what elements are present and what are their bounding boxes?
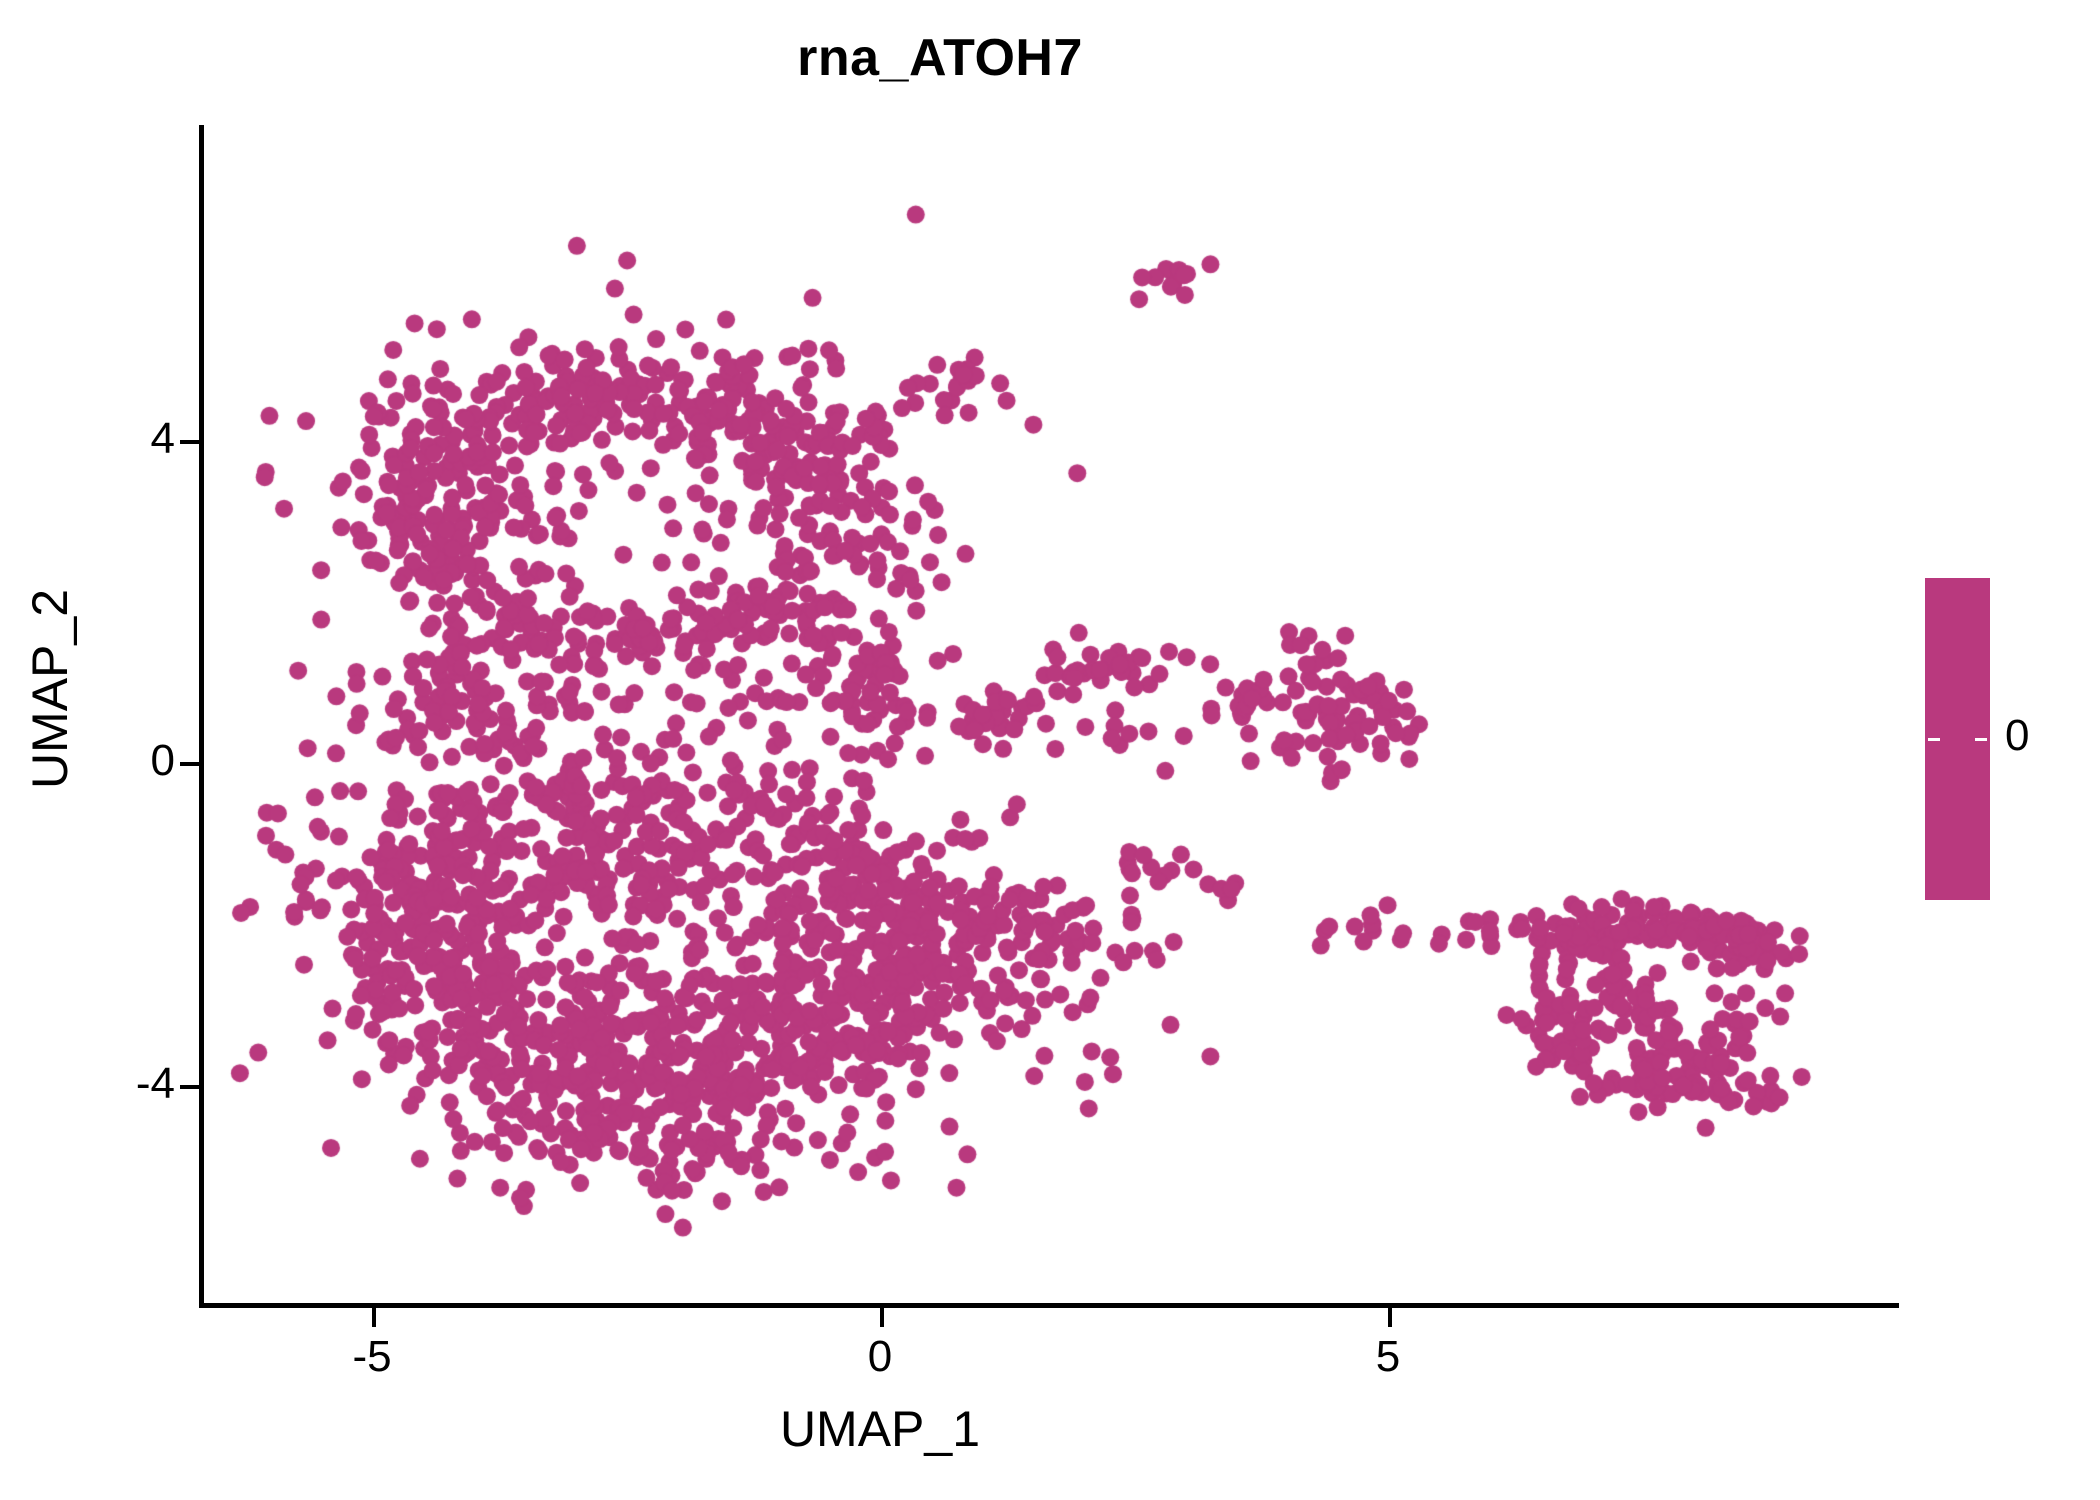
colorbar-tick-left: [1928, 738, 1940, 741]
y-tick-mark-0: [180, 762, 200, 766]
scatter-points-layer: [199, 125, 1899, 1305]
y-tick-label-neg4: -4: [80, 1059, 175, 1109]
x-axis-title: UMAP_1: [199, 1400, 1561, 1458]
x-tick-mark-neg5: [372, 1307, 376, 1327]
x-tick-label-0: 0: [825, 1332, 935, 1382]
x-axis-line: [199, 1303, 1899, 1308]
y-tick-mark-neg4: [180, 1085, 200, 1089]
y-axis-title: UMAP_2: [21, 309, 79, 1069]
colorbar-tick-right: [1975, 738, 1987, 741]
colorbar-legend: 0: [1925, 578, 2100, 908]
page-title: rna_ATOH7: [0, 30, 1880, 87]
y-tick-label-4: 4: [110, 414, 175, 464]
y-axis-line: [199, 125, 204, 1305]
x-tick-label-5: 5: [1333, 1332, 1443, 1382]
x-tick-mark-0: [880, 1307, 884, 1327]
x-tick-label-neg5: -5: [317, 1332, 427, 1382]
colorbar-value-label: 0: [2005, 711, 2029, 761]
y-tick-label-0: 0: [110, 736, 175, 786]
y-tick-mark-4: [180, 440, 200, 444]
umap-scatter-plot-figure: rna_ATOH7 4 0 -4 -5 0 5 UMAP_2 UMAP_1 0: [0, 0, 2100, 1500]
x-tick-mark-5: [1388, 1307, 1392, 1327]
